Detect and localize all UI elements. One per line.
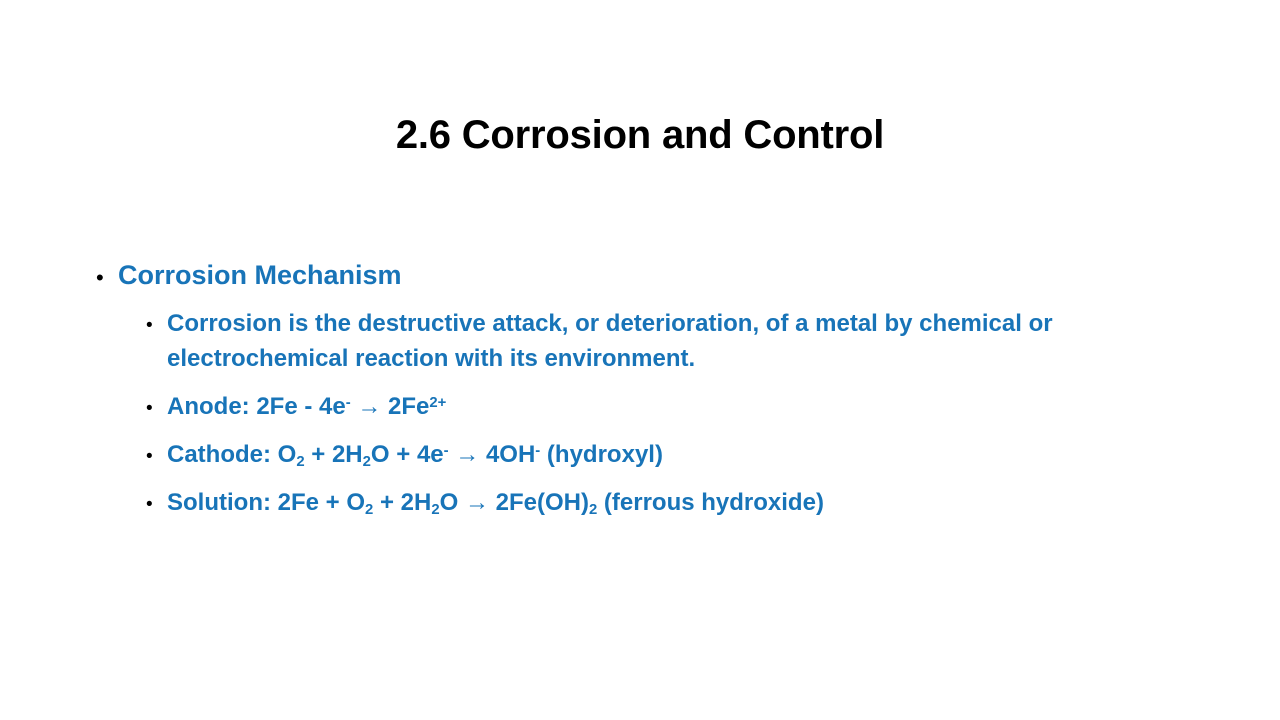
bullet-dot-icon: • <box>146 389 167 418</box>
bullet-item-cathode: • Cathode: O2 + 2H2O + 4e- → 4OH- (hydro… <box>96 437 1216 472</box>
bullet-item-definition: • Corrosion is the destructive attack, o… <box>96 306 1216 376</box>
cathode-equation: Cathode: O2 + 2H2O + 4e- → 4OH- (hydroxy… <box>167 437 1216 472</box>
anode-equation: Anode: 2Fe - 4e- → 2Fe2+ <box>167 389 1216 424</box>
slide-body: • Corrosion Mechanism • Corrosion is the… <box>96 258 1216 533</box>
bullet-dot-icon: • <box>96 258 118 289</box>
bullet-item-anode: • Anode: 2Fe - 4e- → 2Fe2+ <box>96 389 1216 424</box>
bullet-dot-icon: • <box>146 306 167 335</box>
bullet-level1-label: Corrosion Mechanism <box>118 258 1216 294</box>
bullet-item-level1: • Corrosion Mechanism <box>96 258 1216 294</box>
bullet-item-solution: • Solution: 2Fe + O2 + 2H2O → 2Fe(OH)2 (… <box>96 485 1216 520</box>
bullet-dot-icon: • <box>146 485 167 514</box>
solution-equation: Solution: 2Fe + O2 + 2H2O → 2Fe(OH)2 (fe… <box>167 485 1216 520</box>
slide-title: 2.6 Corrosion and Control <box>64 112 1216 159</box>
corrosion-definition-text: Corrosion is the destructive attack, or … <box>167 306 1167 376</box>
bullet-dot-icon: • <box>146 437 167 466</box>
slide-canvas: 2.6 Corrosion and Control • Corrosion Me… <box>0 0 1280 720</box>
